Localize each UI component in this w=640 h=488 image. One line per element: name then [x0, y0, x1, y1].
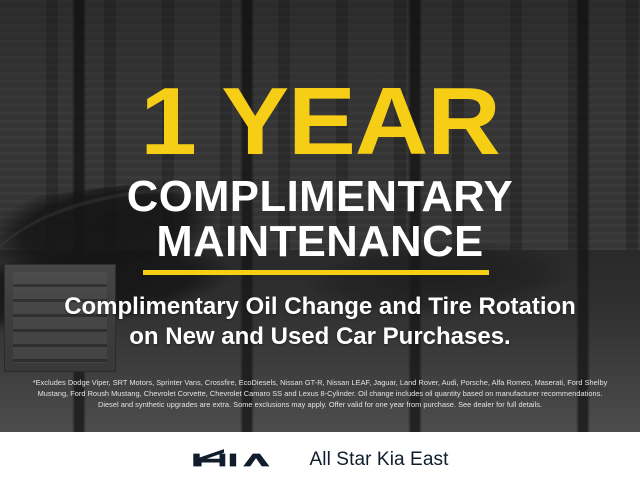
hero-section: 1 YEAR COMPLIMENTARY MAINTENANCE Complim… — [0, 0, 640, 432]
disclaimer-line-1: *Excludes Dodge Viper, SRT Motors, Sprin… — [12, 377, 628, 388]
footer-bar: All Star Kia East — [0, 432, 640, 488]
offer-text-line-2: on New and Used Car Purchases. — [0, 322, 640, 352]
headline-complimentary: COMPLIMENTARY — [3, 174, 637, 220]
headline-maintenance: MAINTENANCE — [3, 219, 637, 265]
hero-content: 1 YEAR COMPLIMENTARY MAINTENANCE Complim… — [0, 0, 640, 432]
disclaimer-line-2: Mustang, Ford Roush Mustang, Chevrolet C… — [12, 388, 628, 399]
dealer-name: All Star Kia East — [310, 449, 449, 471]
promo-banner: 1 YEAR COMPLIMENTARY MAINTENANCE Complim… — [0, 0, 640, 488]
disclaimer-line-3: Diesel and synthetic upgrades are extra.… — [12, 399, 628, 410]
yellow-divider-bar — [143, 270, 489, 275]
offer-text-line-1: Complimentary Oil Change and Tire Rotati… — [0, 292, 640, 322]
kia-logo-icon — [192, 448, 288, 472]
headline-year: 1 YEAR — [0, 74, 640, 170]
disclaimer-text: *Excludes Dodge Viper, SRT Motors, Sprin… — [12, 377, 628, 411]
